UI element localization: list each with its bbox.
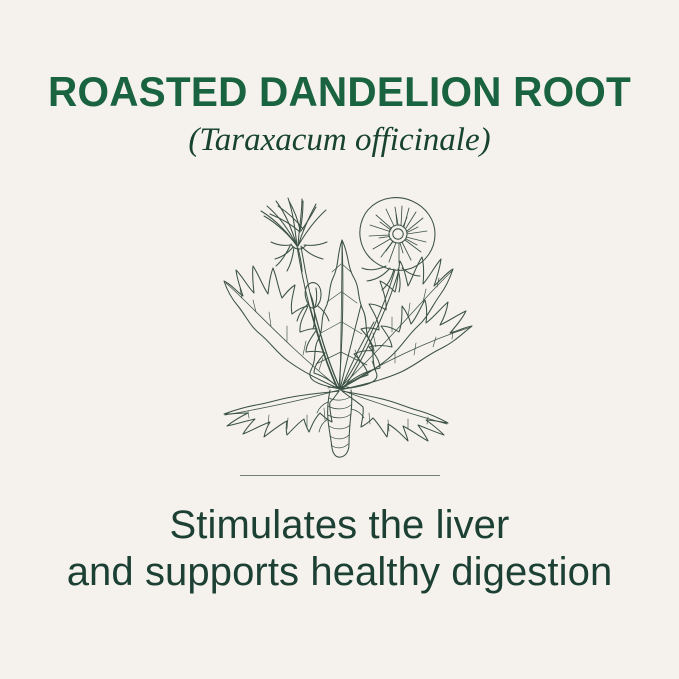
closed-seedhead xyxy=(261,198,327,272)
dandelion-plant-icon xyxy=(190,174,490,459)
leaf-left-lower xyxy=(224,390,339,437)
tagline-block: Stimulates the liver and supports health… xyxy=(0,502,679,595)
page-title: ROASTED DANDELION ROOT xyxy=(12,70,667,114)
leaf-left-upper xyxy=(224,266,340,389)
leaf-right-lower xyxy=(341,390,448,441)
product-benefit-card: ROASTED DANDELION ROOT (Taraxacum offici… xyxy=(0,0,679,679)
leaf-right-mid xyxy=(340,300,472,390)
taproot xyxy=(317,387,364,458)
horizontal-rule xyxy=(240,475,440,476)
tagline-line-2: and supports healthy digestion xyxy=(0,549,679,595)
tagline-line-1: Stimulates the liver xyxy=(0,502,679,548)
header-block: ROASTED DANDELION ROOT (Taraxacum offici… xyxy=(0,70,679,158)
botanical-name: (Taraxacum officinale) xyxy=(0,122,679,158)
dandelion-illustration xyxy=(190,174,490,459)
